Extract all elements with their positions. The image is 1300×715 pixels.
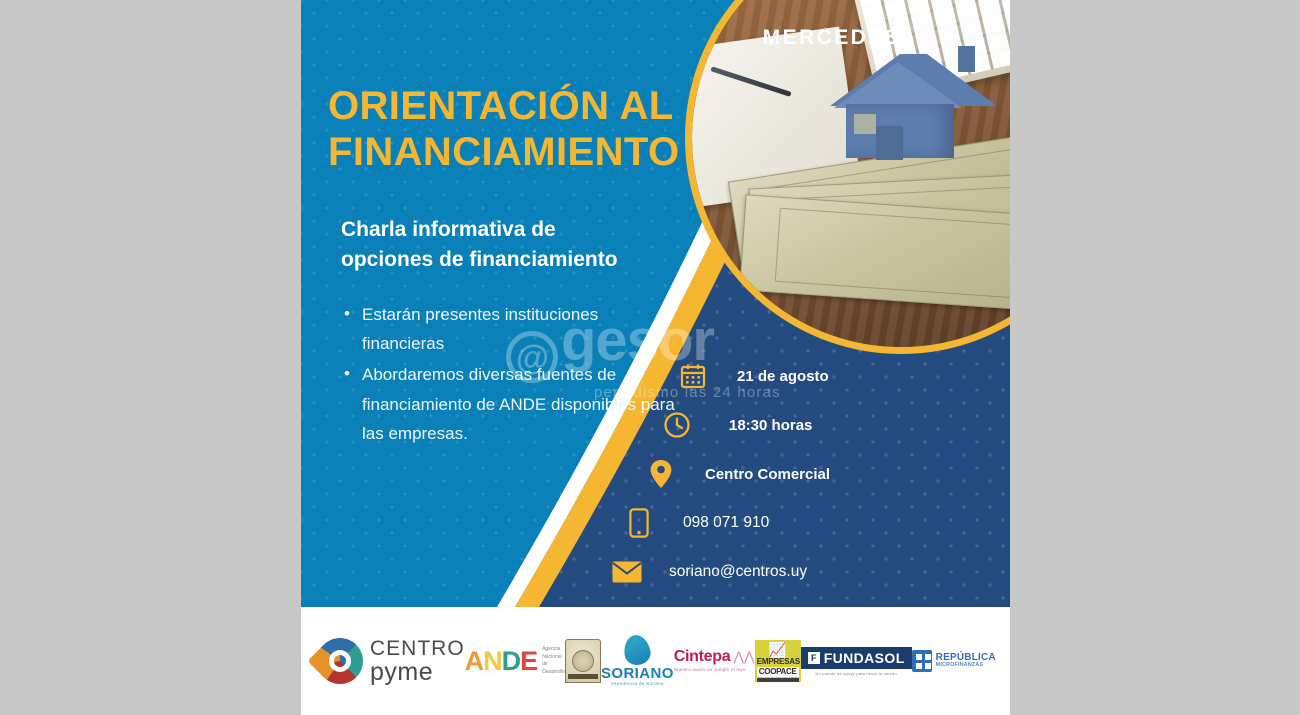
logo-cintepa: Cintepa⋀⋀ Nuestro sueño es cumplir el tu…	[674, 649, 755, 673]
clock-icon	[657, 407, 697, 443]
detail-row-time: 18:30 horas	[661, 407, 1001, 443]
ande-letter-e: E	[520, 646, 537, 676]
centro-pyme-line-1: CENTRO	[370, 638, 465, 659]
list-item: Estarán presentes instituciones financie…	[344, 300, 684, 358]
sponsor-logo-bar: CENTRO pyme ANDE Agencia Nacional de Des…	[301, 607, 1010, 715]
ande-letter-a: A	[465, 646, 484, 676]
fundasol-mark-icon: F	[808, 652, 820, 664]
contact-email[interactable]: soriano@centros.uy	[669, 563, 807, 581]
ande-tagline: Agencia Nacional de Desarrollo	[542, 646, 565, 676]
pin-dot	[334, 655, 346, 667]
subtitle: Charla informativa de opciones de financ…	[341, 215, 701, 275]
page-background: MERCEDES ORIENTACIÓN AL FINANCIAMIENTO C…	[0, 0, 1300, 715]
calendar-icon	[673, 358, 713, 394]
centro-pyme-wordmark: CENTRO pyme	[370, 638, 465, 685]
soriano-tagline: Intendencia de Soriano	[601, 682, 674, 687]
city-label: MERCEDES	[537, 26, 901, 50]
centro-pyme-pin-icon	[317, 638, 363, 684]
logo-centro-pyme: CENTRO pyme	[317, 638, 465, 685]
soriano-wordmark: SORIANO Intendencia de Soriano	[601, 635, 674, 687]
cintepa-mark-icon: ⋀⋀	[733, 649, 754, 664]
logo-republica-microfinanzas: REPÚBLICA MICROFINANZAS	[912, 650, 996, 672]
detail-row-email: soriano@centros.uy	[661, 554, 1001, 590]
house-roof-highlight	[834, 62, 962, 108]
logo-ande: ANDE Agencia Nacional de Desarrollo	[465, 646, 565, 676]
coopace-badge: 📈 EMPRESAS COOPACE	[755, 640, 801, 682]
growth-arrow-icon: 📈	[757, 643, 799, 658]
fundasol-badge: F FUNDASOL	[801, 647, 912, 669]
republica-line-2: MICROFINANZAS	[936, 663, 996, 669]
event-poster: MERCEDES ORIENTACIÓN AL FINANCIAMIENTO C…	[301, 0, 1010, 715]
event-location: Centro Comercial	[705, 466, 830, 483]
subtitle-line-2: opciones de financiamiento	[341, 245, 701, 275]
centro-pyme-line-2: pyme	[370, 660, 465, 685]
cintepa-name: Cintepa	[674, 648, 731, 665]
title-line-1: ORIENTACIÓN AL	[328, 83, 728, 129]
hero-photo	[685, 0, 1010, 354]
phone-icon	[619, 505, 659, 541]
detail-row-phone: 098 071 910	[661, 505, 1001, 541]
logo-intendencia-seal	[565, 639, 601, 683]
cintepa-name-row: Cintepa⋀⋀	[674, 649, 755, 665]
republica-wordmark: REPÚBLICA MICROFINANZAS	[936, 653, 996, 669]
hero-photo-image	[692, 0, 1010, 347]
soriano-drop-icon	[622, 633, 653, 667]
fundasol-wordmark: F FUNDASOL Un puente de apoyo para lleva…	[801, 647, 912, 676]
email-icon	[607, 554, 647, 590]
seal-emblem	[572, 650, 594, 672]
bullet-list: Estarán presentes instituciones financie…	[344, 300, 684, 450]
soriano-name: SORIANO	[601, 666, 674, 681]
location-pin-icon	[641, 456, 681, 492]
cintepa-wordmark: Cintepa⋀⋀ Nuestro sueño es cumplir el tu…	[674, 649, 755, 673]
toy-house-object	[830, 54, 997, 213]
event-date: 21 de agosto	[737, 368, 829, 385]
coopace-line-2: COOPACE	[757, 667, 799, 677]
subtitle-line-1: Charla informativa de	[341, 215, 701, 245]
event-details: 21 de agosto 18:30 horas	[661, 358, 1001, 603]
title-line-2: FINANCIAMIENTO	[328, 129, 728, 175]
coopace-bar	[757, 678, 799, 682]
republica-mark-icon	[912, 650, 932, 672]
detail-row-location: Centro Comercial	[661, 456, 1001, 492]
seal-band	[568, 674, 598, 679]
seal-crest-icon	[565, 639, 601, 683]
ande-letter-n: N	[483, 646, 502, 676]
list-item: Abordaremos diversas fuentes de financia…	[344, 360, 684, 448]
logo-empresas-coopace: 📈 EMPRESAS COOPACE	[755, 640, 801, 682]
logo-fundasol: F FUNDASOL Un puente de apoyo para lleva…	[801, 647, 912, 676]
fundasol-name: FUNDASOL	[824, 651, 905, 665]
contact-phone[interactable]: 098 071 910	[683, 514, 769, 532]
detail-row-date: 21 de agosto	[661, 358, 1001, 394]
house-window	[854, 114, 876, 134]
coopace-line-1: EMPRESAS	[757, 658, 799, 666]
house-door	[876, 126, 903, 160]
event-time: 18:30 horas	[729, 417, 812, 434]
fundasol-tagline: Un puente de apoyo para llevar tu mundo	[801, 671, 912, 676]
ande-letter-d: D	[502, 646, 521, 676]
page-title: ORIENTACIÓN AL FINANCIAMIENTO	[328, 83, 728, 175]
cintepa-tagline: Nuestro sueño es cumplir el tuyo	[674, 668, 755, 673]
ande-wordmark: ANDE	[465, 648, 538, 675]
logo-soriano: SORIANO Intendencia de Soriano	[601, 635, 674, 687]
